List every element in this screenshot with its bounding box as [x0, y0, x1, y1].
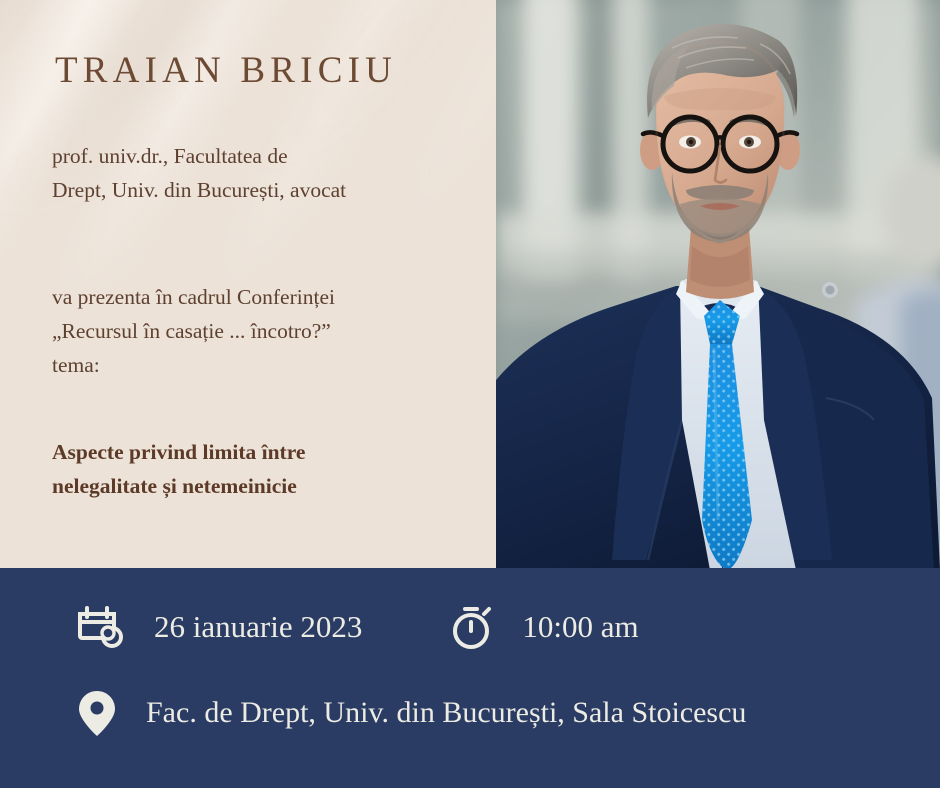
speaker-role: prof. univ.dr., Facultatea de Drept, Uni… [52, 139, 472, 207]
conference-intro-line-3: tema: [52, 348, 482, 382]
conference-intro-line-1: va prezenta în cadrul Conferinței [52, 280, 482, 314]
speaker-photo [496, 0, 940, 570]
speaker-name: TRAIAN BRICIU [55, 52, 397, 89]
date-time-row: 26 ianuarie 2023 10:00 am [74, 600, 639, 652]
location-row: Fac. de Drept, Univ. din București, Sala… [74, 686, 746, 740]
presentation-topic-line-1: Aspecte privind limita între [52, 435, 472, 469]
event-location: Fac. de Drept, Univ. din București, Sala… [146, 698, 746, 728]
presentation-topic: Aspecte privind limita între nelegalitat… [52, 435, 472, 503]
speaker-photo-illustration [496, 0, 940, 570]
event-poster: TRAIAN BRICIU prof. univ.dr., Facultatea… [0, 0, 940, 788]
speaker-role-line-1: prof. univ.dr., Facultatea de [52, 139, 472, 173]
location-item: Fac. de Drept, Univ. din București, Sala… [74, 686, 746, 740]
time-item: 10:00 am [448, 600, 638, 652]
presentation-topic-line-2: nelegalitate și netemeinicie [52, 469, 472, 503]
stopwatch-icon [448, 600, 498, 652]
conference-title-quoted: „Recursul în casație ... încotro?” [52, 314, 482, 348]
date-item: 26 ianuarie 2023 [74, 600, 362, 652]
event-date: 26 ianuarie 2023 [154, 611, 362, 642]
conference-intro: va prezenta în cadrul Conferinței „Recur… [52, 280, 482, 382]
map-pin-icon [74, 686, 120, 740]
calendar-icon [74, 600, 126, 652]
speaker-role-line-2: Drept, Univ. din București, avocat [52, 173, 472, 207]
event-time: 10:00 am [522, 611, 638, 642]
